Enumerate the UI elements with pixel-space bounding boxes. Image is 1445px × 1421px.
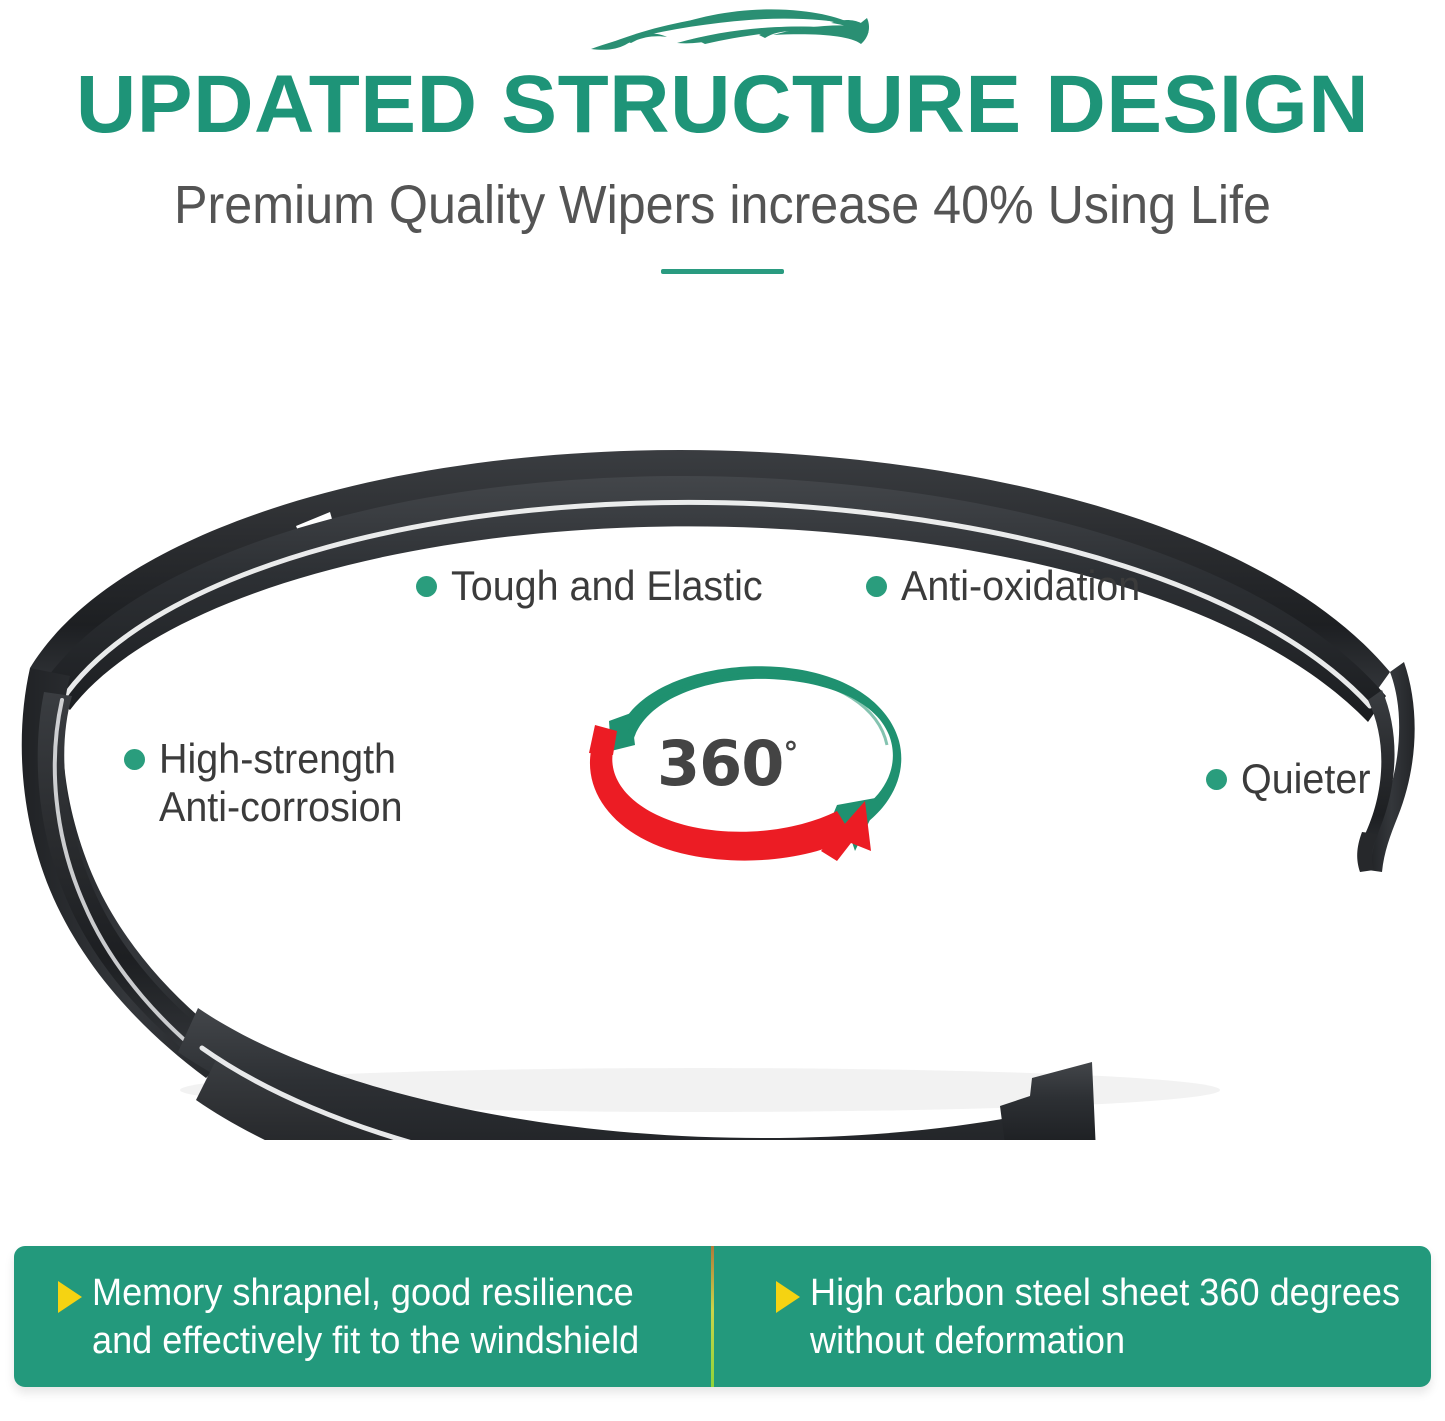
triangle-bullet-icon — [58, 1281, 82, 1313]
sports-car-silhouette-icon — [573, 5, 873, 61]
feature-label: Anti-oxidation — [901, 562, 1140, 610]
banner-text-line-1: High carbon steel sheet 360 degrees — [810, 1272, 1400, 1314]
feature-anti-oxidation: Anti-oxidation — [866, 562, 1155, 610]
feature-banner: Memory shrapnel, good resilience and eff… — [14, 1246, 1431, 1387]
banner-text-line-2: without deformation — [810, 1317, 1400, 1365]
banner-item: High carbon steel sheet 360 degrees with… — [776, 1269, 1431, 1365]
banner-text: Memory shrapnel, good resilience and eff… — [92, 1269, 639, 1365]
page-subtitle: Premium Quality Wipers increase 40% Usin… — [51, 174, 1395, 236]
banner-column-left: Memory shrapnel, good resilience and eff… — [14, 1246, 711, 1387]
banner-text: High carbon steel sheet 360 degrees with… — [810, 1269, 1400, 1365]
feature-label-line-2: Anti-corrosion — [159, 783, 403, 831]
banner-text-line-1: Memory shrapnel, good resilience — [92, 1272, 634, 1314]
feature-quieter: Quieter — [1206, 755, 1379, 803]
bullet-dot-icon — [124, 749, 145, 770]
bullet-dot-icon — [416, 576, 437, 597]
brand-logo — [0, 4, 1445, 62]
bullet-dot-icon — [1206, 769, 1227, 790]
degree-symbol-icon: ° — [783, 736, 797, 771]
banner-item: Memory shrapnel, good resilience and eff… — [58, 1269, 668, 1365]
feature-label: Tough and Elastic — [451, 562, 763, 610]
title-divider — [661, 269, 784, 274]
360-degree-badge: 360° — [565, 655, 925, 867]
badge-value: 360° — [657, 733, 797, 795]
triangle-bullet-icon — [776, 1281, 800, 1313]
feature-label: High-strength Anti-corrosion — [159, 735, 403, 831]
page-title: UPDATED STRUCTURE DESIGN — [0, 62, 1445, 148]
product-infographic-page: UPDATED STRUCTURE DESIGN Premium Quality… — [0, 0, 1445, 1421]
banner-text-line-2: and effectively fit to the windshield — [92, 1317, 639, 1365]
feature-high-strength-anti-corrosion: High-strength Anti-corrosion — [124, 735, 418, 831]
feature-label-line-1: High-strength — [159, 735, 396, 782]
bullet-dot-icon — [866, 576, 887, 597]
banner-column-right: High carbon steel sheet 360 degrees with… — [714, 1246, 1431, 1387]
feature-tough-and-elastic: Tough and Elastic — [416, 562, 783, 610]
feature-label: Quieter — [1241, 755, 1370, 803]
badge-number: 360 — [657, 727, 783, 800]
